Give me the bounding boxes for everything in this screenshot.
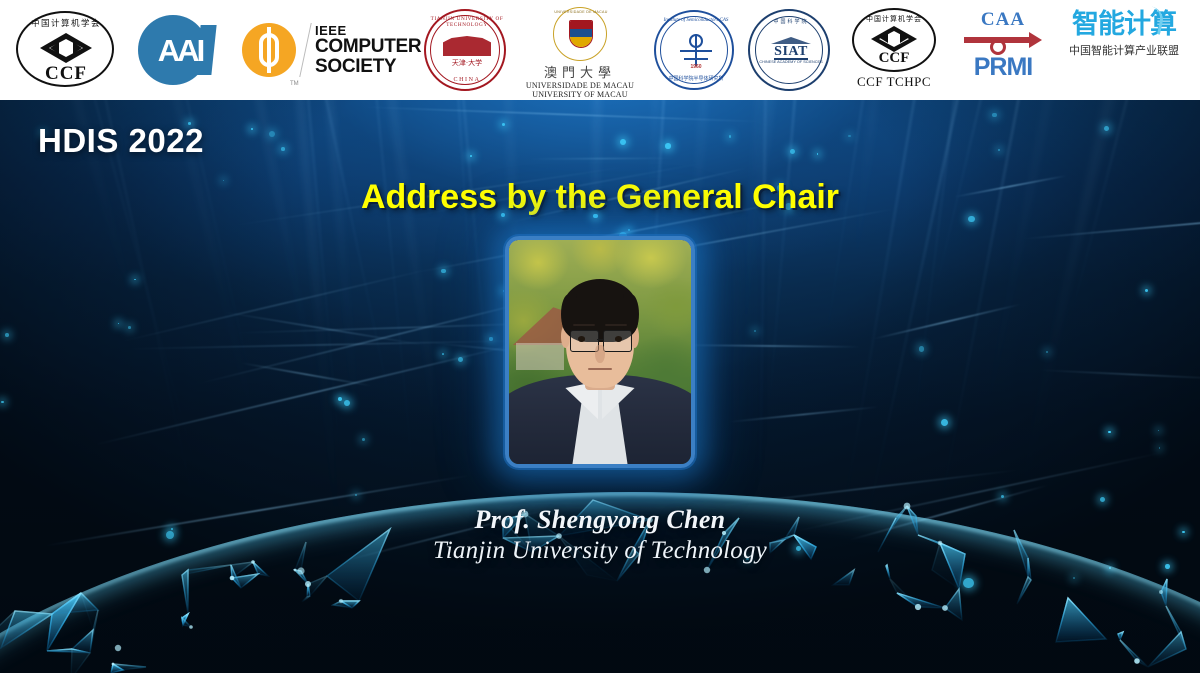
slide-title: Address by the General Chair — [0, 178, 1200, 217]
computer-label: COMPUTER — [315, 37, 421, 56]
tjut-arc-top-label: TIANJIN UNIVERSITY OF TECHNOLOGY — [426, 16, 508, 28]
macau-english-label: UNIVERSITY OF MACAU — [520, 90, 640, 99]
ccf-tchpc-logo: 中国计算机学会 CCF CCF TCHPC — [844, 8, 944, 92]
prmi-label: PRMI — [958, 55, 1048, 80]
zhineng-alliance-label: 中国智能计算产业联盟 — [1062, 42, 1186, 58]
tchpc-ccf-label: CCF — [852, 50, 936, 132]
iscas-year-label: 1960 — [656, 64, 736, 70]
university-of-macau-logo: UNIVERSIDADE DE MACAU 澳門大學 UNIVERSIDADE … — [520, 7, 640, 93]
caa-label: CAA — [958, 10, 1048, 29]
institute-of-semiconductors-cas-logo: Institute of Semiconductors CAS 1960 中国科… — [654, 10, 734, 90]
conference-tag: HDIS 2022 — [38, 122, 204, 160]
tianjin-university-of-technology-logo: TIANJIN UNIVERSITY OF TECHNOLOGY 天津·大学 C… — [424, 9, 506, 91]
ieee-label: IEEE — [315, 24, 421, 37]
macau-crest-text: UNIVERSIDADE DE MACAU — [554, 10, 608, 14]
caa-prmi-logo: CAA PRMI — [958, 10, 1048, 90]
aai-abbr-label: AAI — [132, 33, 228, 69]
tchpc-label: CCF TCHPC — [844, 74, 944, 90]
society-label: SOCIETY — [315, 57, 421, 76]
macau-crest-icon: UNIVERSIDADE DE MACAU — [553, 7, 607, 61]
iscas-arc-top-label: Institute of Semiconductors CAS — [656, 18, 736, 23]
ccf-chinese-label: 中国计算机学会 — [14, 17, 118, 29]
divider — [299, 23, 311, 77]
aai-logo: AAI — [132, 13, 228, 87]
tjut-building-icon — [443, 36, 491, 56]
siat-arc-label: 中国科学院 — [750, 18, 832, 25]
ccf-logo: 中国计算机学会 CCF — [14, 9, 118, 91]
tchpc-chinese-label: 中国计算机学会 — [852, 14, 936, 24]
speaker-portrait-photo — [509, 240, 691, 464]
slide-stage: HDIS 2022 Address by the General Chair — [0, 100, 1200, 673]
trademark-label: TM — [290, 81, 299, 87]
siat-cas-logo: 中国科学院 SIAT CHINESE ACADEMY OF SCIENCES — [748, 9, 830, 91]
ieee-computer-society-logo: TM IEEE COMPUTER SOCIETY — [242, 11, 410, 89]
zhineng-chinese-label: 智能计算 — [1062, 10, 1186, 40]
macau-portuguese-label: UNIVERSIDADE DE MACAU — [520, 81, 640, 90]
ieee-cs-mark-icon — [242, 23, 296, 77]
siat-sub-label: CHINESE ACADEMY OF SCIENCES — [750, 60, 832, 65]
speaker-name: Prof. Shengyong Chen — [0, 505, 1200, 535]
intelligent-computing-alliance-logo: 智能计算 中国智能计算产业联盟 — [1062, 10, 1186, 90]
presentation-slide: 中国计算机学会 CCF AAI TM IEEE COMPUTER SOCIETY — [0, 0, 1200, 673]
speaker-affiliation: Tianjin University of Technology — [0, 537, 1200, 565]
speaker-caption: Prof. Shengyong Chen Tianjin University … — [0, 505, 1200, 565]
macau-chinese-label: 澳門大學 — [520, 62, 640, 81]
tjut-arc-bottom-label: CHINA — [426, 77, 508, 83]
sponsor-logo-bar: 中国计算机学会 CCF AAI TM IEEE COMPUTER SOCIETY — [0, 0, 1200, 100]
iscas-arc-bottom-label: 中国科学院半导体研究所 — [656, 75, 736, 82]
tjut-chinese-label: 天津·大学 — [426, 58, 508, 68]
speaker-portrait-frame — [505, 236, 695, 468]
ccf-abbr-label: CCF — [14, 63, 118, 85]
